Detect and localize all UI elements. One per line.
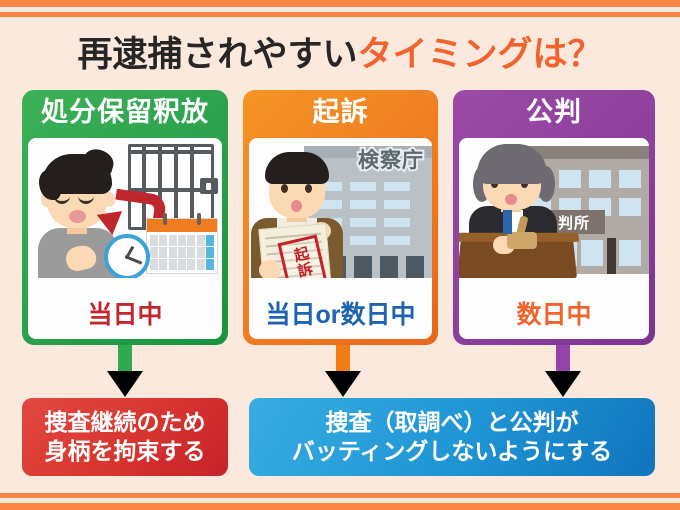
- conclusion-2-line-2: バッティングしないようにする: [292, 437, 612, 466]
- card-kiso[interactable]: 起訴: [243, 90, 438, 345]
- card-3-body: 裁判所: [459, 138, 649, 339]
- bottom-thin-bar: [0, 493, 680, 498]
- arrow-card1-to-conclusion: [105, 345, 145, 400]
- clock-icon: [104, 234, 150, 278]
- card-1-timing: 当日中: [28, 295, 222, 331]
- conclusion-detention-reason: 捜査継続のため 身柄を拘束する: [22, 398, 228, 476]
- card-3-timing: 数日中: [459, 295, 649, 331]
- prosecutor-figure: 起訴: [251, 152, 343, 278]
- card-1-body: 当日中: [28, 138, 222, 339]
- conclusion-scheduling-reason: 捜査（取調べ）と公判が バッティングしないようにする: [249, 398, 655, 476]
- conclusion-1-line-2: 身柄を拘束する: [45, 437, 206, 466]
- card-1-header: 処分保留釈放: [22, 90, 228, 134]
- padlock-icon: [200, 178, 218, 194]
- arrow-card2-to-conclusion: [323, 345, 363, 400]
- top-thick-bar: [0, 0, 680, 7]
- title-accent: タイミングは？: [358, 35, 603, 74]
- conclusion-2-line-1: 捜査（取調べ）と公判が: [292, 408, 612, 437]
- conclusion-1-line-1: 捜査継続のため: [45, 408, 206, 437]
- infographic-page: 再逮捕されやすいタイミングは？ 処分保留釈放: [0, 0, 680, 510]
- released-man-jail-calendar-illustration: [28, 138, 222, 278]
- prosecutors-office-sign-text: 検察庁: [358, 149, 424, 172]
- card-2-header: 起訴: [243, 90, 438, 134]
- title-lead: 再逮捕されやすい: [77, 35, 357, 74]
- prosecutors-office-sign: 検察庁: [358, 144, 424, 174]
- judge-figure: [463, 144, 563, 278]
- card-3-header: 公判: [453, 90, 655, 134]
- prosecutor-with-indictment-illustration: 検察庁: [249, 138, 432, 278]
- page-title: 再逮捕されやすいタイミングは？: [0, 26, 680, 77]
- card-2-timing: 当日or数日中: [249, 295, 432, 331]
- arrow-card3-to-conclusion: [543, 345, 583, 400]
- judge-with-gavel-illustration: 裁判所: [459, 138, 649, 278]
- card-2-body: 検察庁: [249, 138, 432, 339]
- card-kohan[interactable]: 公判: [453, 90, 655, 345]
- calendar-icon: [146, 218, 218, 274]
- top-thin-bar: [0, 12, 680, 17]
- card-shobun-horyu-shakuho[interactable]: 処分保留釈放: [22, 90, 228, 345]
- bottom-thick-bar: [0, 503, 680, 510]
